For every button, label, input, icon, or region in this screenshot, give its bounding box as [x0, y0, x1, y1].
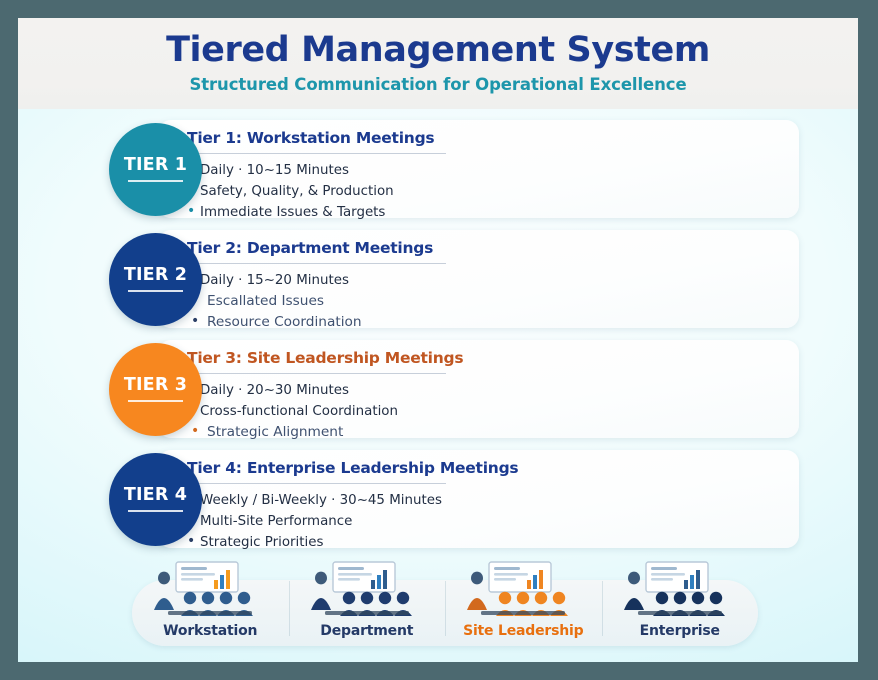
tier-heading-underline [187, 153, 446, 154]
tier-badge-underline [128, 180, 183, 182]
tier-card-4[interactable]: Tier 4: Enterprise Leadership MeetingsWe… [158, 450, 799, 548]
page-subtitle: Structured Communication for Operational… [18, 70, 858, 94]
footer-item-workstation[interactable]: Workstation [132, 573, 289, 646]
tier-bullet: Strategic Priorities [187, 532, 783, 553]
tier-heading: Tier 1: Workstation Meetings [187, 130, 434, 151]
tier-bullet: Safety, Quality, & Production [187, 181, 783, 202]
tier-bullet: Cross-functional Coordination [187, 401, 783, 422]
footer-item-label: Site Leadership [463, 623, 583, 639]
tier-card-2[interactable]: Tier 2: Department MeetingsDaily · 15~20… [158, 230, 799, 328]
tier-heading: Tier 4: Enterprise Leadership Meetings [187, 460, 518, 481]
footer-strip: WorkstationDepartmentSite LeadershipEnte… [132, 580, 758, 646]
footer-item-department[interactable]: Department [289, 573, 446, 646]
tier-bullet: Escallated Issues [187, 291, 783, 312]
tier-badge-label: TIER 3 [124, 377, 187, 395]
workstation-meeting-illustration [146, 558, 274, 620]
tier-heading-underline [187, 483, 446, 484]
tier-badge-3[interactable]: TIER 3 [109, 343, 202, 436]
tier-bullet: Strategic Alignment [187, 422, 783, 443]
tier-badge-underline [128, 400, 183, 402]
tier-bullet-list: Weekly / Bi-Weekly · 30~45 MinutesMulti-… [187, 490, 783, 553]
tier-card-3[interactable]: Tier 3: Site Leadership MeetingsDaily · … [158, 340, 799, 438]
tier-badge-underline [128, 510, 183, 512]
tier-list: Tier 1: Workstation MeetingsDaily · 10~1… [18, 114, 858, 554]
tier-bullet: Immediate Issues & Targets [187, 202, 783, 223]
tier-bullet-list: Daily · 15~20 MinutesEscallated IssuesRe… [187, 270, 783, 333]
footer-item-label: Workstation [163, 623, 257, 639]
footer-item-enterprise[interactable]: Enterprise [602, 573, 759, 646]
tier-badge-label: TIER 2 [124, 267, 187, 285]
site-leadership-meeting-illustration [459, 558, 587, 620]
page-title: Tiered Management System [18, 18, 858, 70]
tier-badge-label: TIER 1 [124, 157, 187, 175]
tier-heading-underline [187, 373, 446, 374]
tier-row: Tier 3: Site Leadership MeetingsDaily · … [18, 334, 858, 444]
tier-badge-label: TIER 4 [124, 487, 187, 505]
footer-item-label: Department [320, 623, 413, 639]
tier-bullet: Weekly / Bi-Weekly · 30~45 Minutes [187, 490, 783, 511]
tier-badge-underline [128, 290, 183, 292]
tier-badge-2[interactable]: TIER 2 [109, 233, 202, 326]
tier-bullet: Resource Coordination [187, 312, 783, 333]
enterprise-meeting-illustration [616, 558, 744, 620]
tier-heading: Tier 2: Department Meetings [187, 240, 433, 261]
tier-bullet-list: Daily · 20~30 MinutesCross-functional Co… [187, 380, 783, 443]
footer-item-label: Enterprise [640, 623, 720, 639]
tier-bullet: Daily · 15~20 Minutes [187, 270, 783, 291]
tier-card-1[interactable]: Tier 1: Workstation MeetingsDaily · 10~1… [158, 120, 799, 218]
tier-row: Tier 4: Enterprise Leadership MeetingsWe… [18, 444, 858, 554]
department-meeting-illustration [303, 558, 431, 620]
tier-heading-underline [187, 263, 446, 264]
tier-badge-4[interactable]: TIER 4 [109, 453, 202, 546]
tier-row: Tier 1: Workstation MeetingsDaily · 10~1… [18, 114, 858, 224]
tier-badge-1[interactable]: TIER 1 [109, 123, 202, 216]
slide-header: Tiered Management System Structured Comm… [18, 18, 858, 109]
slide-canvas: Tiered Management System Structured Comm… [18, 18, 858, 662]
tier-row: Tier 2: Department MeetingsDaily · 15~20… [18, 224, 858, 334]
tier-bullet-list: Daily · 10~15 MinutesSafety, Quality, & … [187, 160, 783, 223]
tier-bullet: Multi-Site Performance [187, 511, 783, 532]
slide-frame: Tiered Management System Structured Comm… [0, 0, 878, 680]
tier-heading: Tier 3: Site Leadership Meetings [187, 350, 463, 371]
footer-item-site-leadership[interactable]: Site Leadership [445, 573, 602, 646]
tier-bullet: Daily · 10~15 Minutes [187, 160, 783, 181]
tier-bullet: Daily · 20~30 Minutes [187, 380, 783, 401]
